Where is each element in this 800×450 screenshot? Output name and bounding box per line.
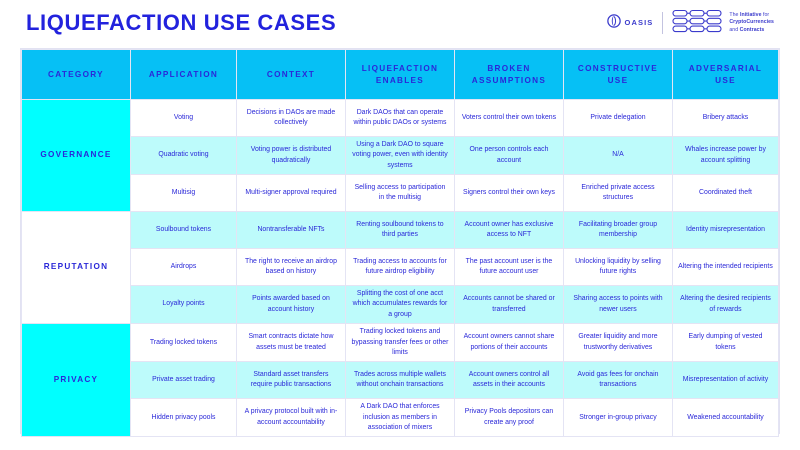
cell-liquefaction-enables: Renting soulbound tokens to third partie… <box>345 212 454 249</box>
table-row: Quadratic voting Voting power is distrib… <box>22 137 779 175</box>
cell-context: Points awarded based on account history <box>236 286 345 324</box>
cell-liquefaction-enables: Trades across multiple wallets without o… <box>345 362 454 399</box>
header-row: CATEGORY APPLICATION CONTEXT LIQUEFACTIO… <box>22 50 779 100</box>
cell-adversarial-use: Identity misrepresentation <box>672 212 778 249</box>
table-row: Loyalty points Points awarded based on a… <box>22 286 779 324</box>
cell-context: Voting power is distributed quadraticall… <box>236 137 345 175</box>
cell-adversarial-use: Weakened accountability <box>672 399 778 437</box>
cell-application: Soulbound tokens <box>131 212 237 249</box>
oasis-swirl-icon <box>607 14 621 33</box>
cell-constructive-use: Greater liquidity and more trustworthy d… <box>563 324 672 362</box>
cell-broken-assumptions: Privacy Pools depositors can create any … <box>454 399 563 437</box>
cell-broken-assumptions: Account owners cannot share portions of … <box>454 324 563 362</box>
ic3-line-2: CryptoCurrencies <box>729 19 774 25</box>
cell-application: Trading locked tokens <box>131 324 237 362</box>
cell-adversarial-use: Misrepresentation of activity <box>672 362 778 399</box>
cell-application: Airdrops <box>131 249 237 286</box>
cell-adversarial-use: Bribery attacks <box>672 100 778 137</box>
ic3-line-3: and Contracts <box>729 27 764 33</box>
table-body: GOVERNANCE Voting Decisions in DAOs are … <box>22 100 779 437</box>
cell-constructive-use: Private delegation <box>563 100 672 137</box>
column-header-context: CONTEXT <box>236 50 345 100</box>
table-row: GOVERNANCE Voting Decisions in DAOs are … <box>22 100 779 137</box>
cell-liquefaction-enables: Using a Dark DAO to square voting power,… <box>345 137 454 175</box>
ic3-logo: The Initiative for CryptoCurrencies and … <box>672 9 774 38</box>
cell-context: Multi-signer approval required <box>236 175 345 212</box>
column-header-liquefaction-enables: LIQUEFACTION ENABLES <box>345 50 454 100</box>
ic3-blocks-icon <box>672 9 724 38</box>
ic3-line-1: The Initiative for <box>729 12 769 18</box>
column-header-category: CATEGORY <box>22 50 131 100</box>
cell-context: Standard asset transfers require public … <box>236 362 345 399</box>
logo-group: OASIS <box>607 9 780 38</box>
cell-constructive-use: Facilitating broader group membership <box>563 212 672 249</box>
cell-adversarial-use: Altering the intended recipients <box>672 249 778 286</box>
cell-broken-assumptions: Signers control their own keys <box>454 175 563 212</box>
page-title: LIQUEFACTION USE CASES <box>26 12 336 34</box>
cell-application: Private asset trading <box>131 362 237 399</box>
cell-context: A privacy protocol built with in-account… <box>236 399 345 437</box>
cell-adversarial-use: Altering the desired recipients of rewar… <box>672 286 778 324</box>
cell-liquefaction-enables: Trading locked tokens and bypassing tran… <box>345 324 454 362</box>
oasis-logo-text: OASIS <box>625 19 654 27</box>
table-row: Hidden privacy pools A privacy protocol … <box>22 399 779 437</box>
cell-liquefaction-enables: Trading access to accounts for future ai… <box>345 249 454 286</box>
table-row: Multisig Multi-signer approval required … <box>22 175 779 212</box>
cell-application: Multisig <box>131 175 237 212</box>
table-header: CATEGORY APPLICATION CONTEXT LIQUEFACTIO… <box>22 50 779 100</box>
category-cell-governance: GOVERNANCE <box>22 100 131 212</box>
cell-constructive-use: Stronger in-group privacy <box>563 399 672 437</box>
category-cell-privacy: PRIVACY <box>22 324 131 437</box>
column-header-adversarial-use: ADVERSARIAL USE <box>672 50 778 100</box>
cell-liquefaction-enables: Splitting the cost of one acct which acc… <box>345 286 454 324</box>
cell-adversarial-use: Early dumping of vested tokens <box>672 324 778 362</box>
cell-liquefaction-enables: A Dark DAO that enforces inclusion as me… <box>345 399 454 437</box>
cell-application: Voting <box>131 100 237 137</box>
table-row: Airdrops The right to receive an airdrop… <box>22 249 779 286</box>
cell-adversarial-use: Whales increase power by account splitti… <box>672 137 778 175</box>
cell-constructive-use: Avoid gas fees for onchain transactions <box>563 362 672 399</box>
cell-constructive-use: Sharing access to points with newer user… <box>563 286 672 324</box>
cell-constructive-use: Unlocking liquidity by selling future ri… <box>563 249 672 286</box>
table-row: REPUTATION Soulbound tokens Nontransfera… <box>22 212 779 249</box>
page-header: LIQUEFACTION USE CASES OASIS <box>0 0 800 46</box>
table-row: Private asset trading Standard asset tra… <box>22 362 779 399</box>
cell-constructive-use: N/A <box>563 137 672 175</box>
cell-broken-assumptions: Account owners control all assets in the… <box>454 362 563 399</box>
cell-liquefaction-enables: Dark DAOs that can operate within public… <box>345 100 454 137</box>
cell-context: Smart contracts dictate how assets must … <box>236 324 345 362</box>
slide-page: LIQUEFACTION USE CASES OASIS <box>0 0 800 450</box>
cell-broken-assumptions: The past account user is the future acco… <box>454 249 563 286</box>
cell-context: The right to receive an airdrop based on… <box>236 249 345 286</box>
oasis-logo: OASIS <box>607 14 654 33</box>
cell-constructive-use: Enriched private access structures <box>563 175 672 212</box>
cell-application: Quadratic voting <box>131 137 237 175</box>
cell-context: Nontransferable NFTs <box>236 212 345 249</box>
table-row: PRIVACY Trading locked tokens Smart cont… <box>22 324 779 362</box>
category-cell-reputation: REPUTATION <box>22 212 131 324</box>
cell-application: Loyalty points <box>131 286 237 324</box>
cell-broken-assumptions: Accounts cannot be shared or transferred <box>454 286 563 324</box>
ic3-logo-text: The Initiative for CryptoCurrencies and … <box>729 12 774 34</box>
logo-divider <box>662 12 663 34</box>
cell-adversarial-use: Coordinated theft <box>672 175 778 212</box>
cell-application: Hidden privacy pools <box>131 399 237 437</box>
column-header-constructive-use: CONSTRUCTIVE USE <box>563 50 672 100</box>
cell-context: Decisions in DAOs are made collectively <box>236 100 345 137</box>
cell-broken-assumptions: Voters control their own tokens <box>454 100 563 137</box>
column-header-application: APPLICATION <box>131 50 237 100</box>
matrix-table: CATEGORY APPLICATION CONTEXT LIQUEFACTIO… <box>21 49 779 437</box>
cell-liquefaction-enables: Selling access to participation in the m… <box>345 175 454 212</box>
use-case-matrix: CATEGORY APPLICATION CONTEXT LIQUEFACTIO… <box>20 48 780 434</box>
cell-broken-assumptions: Account owner has exclusive access to NF… <box>454 212 563 249</box>
column-header-broken-assumptions: BROKEN ASSUMPTIONS <box>454 50 563 100</box>
cell-broken-assumptions: One person controls each account <box>454 137 563 175</box>
